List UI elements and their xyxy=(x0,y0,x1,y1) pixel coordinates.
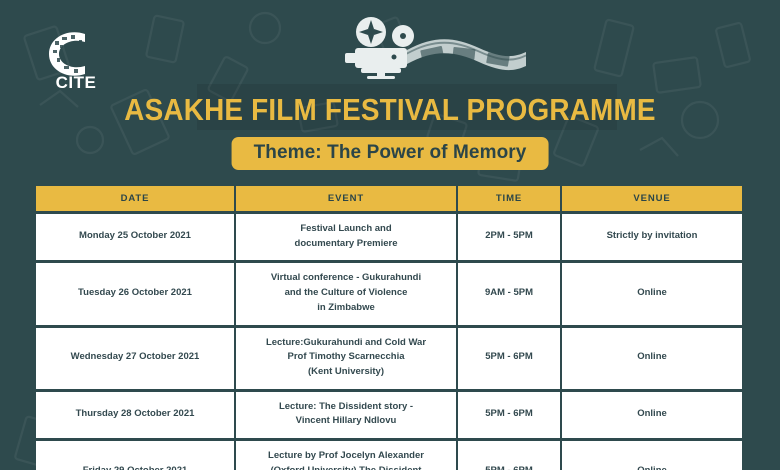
cell-venue: OnlineStrictly by invitation xyxy=(562,441,742,470)
table-row-merged: Friday 29 October 2021Friday 29 October … xyxy=(36,441,742,470)
cell-time: 5PM - 6PM2PM - 5PM xyxy=(458,441,562,470)
cell-date: Tuesday 26 October 2021 xyxy=(36,263,236,327)
svg-text:CITE: CITE xyxy=(56,73,97,90)
column-header-time: TIME xyxy=(458,186,562,214)
column-header-date: DATE xyxy=(36,186,236,214)
page-title: ASAKHE FILM FESTIVAL PROGRAMME xyxy=(39,92,741,128)
table-header-row: DATE EVENT TIME VENUE xyxy=(36,186,742,214)
cell-date: Friday 29 October 2021Friday 29 October … xyxy=(36,441,236,470)
cell-date: Wednesday 27 October 2021 xyxy=(36,328,236,392)
cell-event: Lecture: The Dissident story -Vincent Hi… xyxy=(236,392,458,441)
cell-event: Virtual conference - Gukurahundiand the … xyxy=(236,263,458,327)
table-row: Thursday 28 October 2021Lecture: The Dis… xyxy=(36,392,742,441)
table-row: Wednesday 27 October 2021Lecture:Gukurah… xyxy=(36,328,742,392)
table-body: Monday 25 October 2021Festival Launch an… xyxy=(36,214,742,470)
cite-logo: CITE xyxy=(41,28,111,90)
cell-time: 9AM - 5PM xyxy=(458,263,562,327)
cell-event: Lecture by Prof Jocelyn Alexander(Oxford… xyxy=(236,441,458,470)
cell-time: 2PM - 5PM xyxy=(458,214,562,263)
cell-event: Lecture:Gukurahundi and Cold WarProf Tim… xyxy=(236,328,458,392)
theme-banner: Theme: The Power of Memory xyxy=(232,137,549,170)
cell-date: Monday 25 October 2021 xyxy=(36,214,236,263)
column-header-event: EVENT xyxy=(236,186,458,214)
cell-event: Festival Launch anddocumentary Premiere xyxy=(236,214,458,263)
film-strip-icon xyxy=(407,39,526,70)
cell-time: 5PM - 6PM xyxy=(458,392,562,441)
cell-date: Thursday 28 October 2021 xyxy=(36,392,236,441)
cell-time: 5PM - 6PM xyxy=(458,328,562,392)
movie-projector-icon xyxy=(341,16,526,82)
schedule-table: DATE EVENT TIME VENUE Monday 25 October … xyxy=(36,186,742,470)
cell-venue: Online xyxy=(562,392,742,441)
cell-venue: Strictly by invitation xyxy=(562,214,742,263)
table-row: Monday 25 October 2021Festival Launch an… xyxy=(36,214,742,263)
cell-venue: Online xyxy=(562,328,742,392)
column-header-venue: VENUE xyxy=(562,186,742,214)
festival-programme-poster: CITE xyxy=(0,0,780,470)
cell-venue: Online xyxy=(562,263,742,327)
table-row: Tuesday 26 October 2021Virtual conferenc… xyxy=(36,263,742,327)
